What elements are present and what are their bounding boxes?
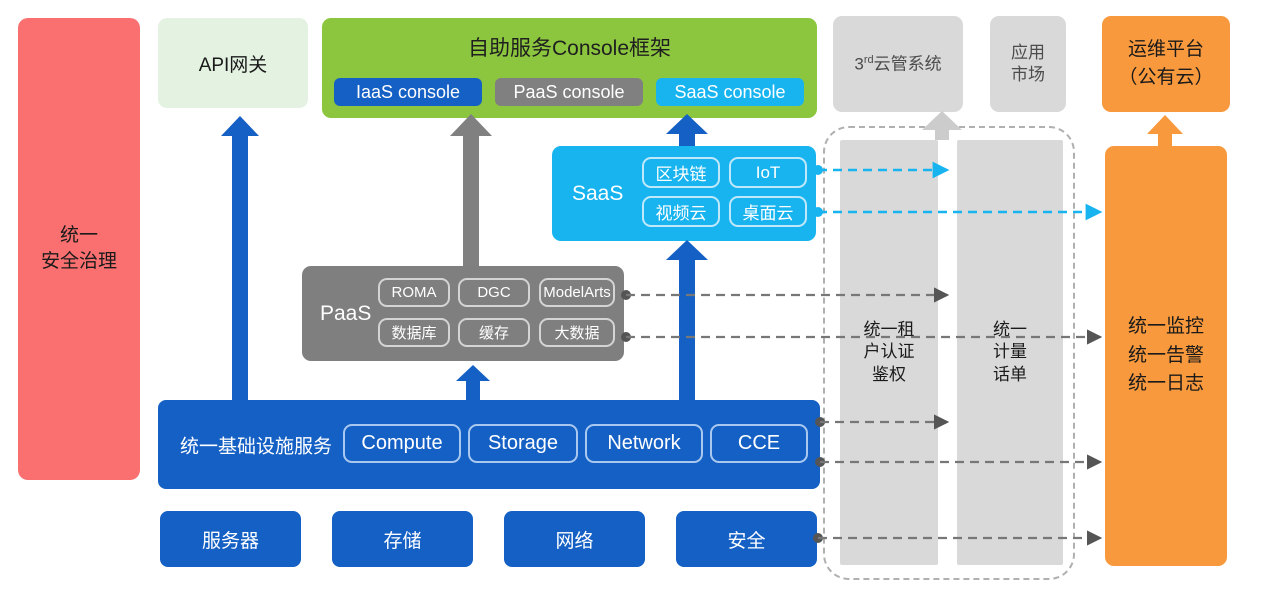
console-chip-saas[interactable]: SaaS console <box>656 78 804 106</box>
ops-panel-line-3: 统一日志 <box>1128 370 1204 399</box>
infra-chip-network[interactable]: Network <box>585 424 703 463</box>
resource-box-storage[interactable]: 存储 <box>332 511 473 567</box>
tenant-auth-line-3: 鉴权 <box>864 364 915 386</box>
tenant-auth-line-2: 户认证 <box>864 341 915 363</box>
arrow-saas-to-console <box>666 114 708 146</box>
paas-chip-database[interactable]: 数据库 <box>378 318 450 347</box>
console-frame-title: 自助服务Console框架 <box>322 32 817 62</box>
paas-chip-bigdata-label: 大数据 <box>554 322 599 343</box>
resource-box-security[interactable]: 安全 <box>676 511 817 567</box>
app-market-box[interactable]: 应用 市场 <box>990 16 1066 112</box>
infra-chip-compute[interactable]: Compute <box>343 424 461 463</box>
ops-panel-line-1: 统一监控 <box>1128 313 1204 342</box>
saas-chip-video-cloud[interactable]: 视频云 <box>642 196 720 227</box>
ops-panel-line-2: 统一告警 <box>1128 342 1204 371</box>
unified-tenant-auth-label: 统一租 户认证 鉴权 <box>864 319 915 385</box>
architecture-diagram: 统一 安全治理 API网关 自助服务Console框架 IaaS console… <box>0 0 1265 605</box>
resource-box-security-label: 安全 <box>727 526 765 553</box>
paas-chip-cache[interactable]: 缓存 <box>458 318 530 347</box>
saas-label: SaaS <box>572 182 623 206</box>
saas-chip-video-cloud-label: 视频云 <box>656 199 707 224</box>
console-chip-saas-label: SaaS console <box>674 82 785 103</box>
infra-chip-network-label: Network <box>607 432 680 455</box>
ops-monitoring-panel[interactable]: 统一监控 统一告警 统一日志 <box>1105 146 1227 566</box>
security-line-1: 统一 <box>41 223 117 249</box>
metering-line-1: 统一 <box>993 319 1027 341</box>
infra-chip-storage-label: Storage <box>488 432 558 455</box>
ops-monitoring-label: 统一监控 统一告警 统一日志 <box>1128 313 1204 399</box>
saas-chip-desktop-cloud[interactable]: 桌面云 <box>729 196 807 227</box>
saas-box[interactable]: SaaS 区块链 IoT 视频云 桌面云 <box>552 146 816 241</box>
saas-chip-blockchain-label: 区块链 <box>656 160 707 185</box>
paas-chip-roma-label: ROMA <box>392 284 437 301</box>
paas-chip-bigdata[interactable]: 大数据 <box>539 318 615 347</box>
security-governance-panel[interactable]: 统一 安全治理 <box>18 18 140 480</box>
unified-infrastructure-label: 统一基础设施服务 <box>180 431 332 458</box>
paas-chip-modelarts[interactable]: ModelArts <box>539 278 615 307</box>
saas-chip-iot-label: IoT <box>756 163 781 183</box>
paas-box[interactable]: PaaS ROMA DGC ModelArts 数据库 缓存 大数据 <box>302 266 624 361</box>
self-service-console-frame[interactable]: 自助服务Console框架 IaaS console PaaS console … <box>322 18 817 118</box>
paas-chip-dgc[interactable]: DGC <box>458 278 530 307</box>
metering-line-2: 计量 <box>993 341 1027 363</box>
unified-tenant-auth-column[interactable]: 统一租 户认证 鉴权 <box>840 140 938 565</box>
ops-platform-line-1: 运维平台 <box>1118 36 1213 64</box>
third-party-cloud-mgmt-box[interactable]: 3rd云管系统 <box>833 16 963 112</box>
resource-box-server-label: 服务器 <box>202 526 259 553</box>
console-chip-iaas-label: IaaS console <box>356 82 460 103</box>
paas-chip-roma[interactable]: ROMA <box>378 278 450 307</box>
infra-chip-cce-label: CCE <box>738 432 780 455</box>
arrow-infra-to-api-gateway <box>221 116 259 400</box>
third-party-cloud-mgmt-label: 3rd云管系统 <box>854 53 941 76</box>
unified-infrastructure-bar[interactable]: 统一基础设施服务 Compute Storage Network CCE <box>158 400 820 489</box>
third-party-suffix: 云管系统 <box>874 54 942 73</box>
resource-box-storage-label: 存储 <box>383 526 421 553</box>
unified-metering-column[interactable]: 统一 计量 话单 <box>957 140 1063 565</box>
security-line-2: 安全治理 <box>41 249 117 275</box>
third-party-superscript: rd <box>864 54 874 66</box>
paas-chip-dgc-label: DGC <box>477 284 510 301</box>
security-governance-label: 统一 安全治理 <box>41 223 117 274</box>
metering-line-3: 话单 <box>993 364 1027 386</box>
api-gateway-label: API网关 <box>199 50 268 77</box>
api-gateway-box[interactable]: API网关 <box>158 18 308 108</box>
arrow-ops-panel-to-ops-platform <box>1147 115 1183 146</box>
arrow-infra-to-saas <box>666 240 708 400</box>
ops-platform-line-2: （公有云） <box>1118 64 1213 92</box>
paas-chip-modelarts-label: ModelArts <box>543 284 611 301</box>
arrow-paas-to-console <box>450 114 492 266</box>
third-party-prefix: 3 <box>854 54 863 73</box>
infra-chip-storage[interactable]: Storage <box>468 424 578 463</box>
app-market-line-1: 应用 <box>1011 42 1045 64</box>
saas-chip-iot[interactable]: IoT <box>729 157 807 188</box>
infra-chip-compute-label: Compute <box>361 432 442 455</box>
console-chip-iaas[interactable]: IaaS console <box>334 78 482 106</box>
resource-box-network[interactable]: 网络 <box>504 511 645 567</box>
app-market-label: 应用 市场 <box>1011 42 1045 86</box>
console-chip-paas-label: PaaS console <box>513 82 624 103</box>
saas-chip-desktop-cloud-label: 桌面云 <box>743 199 794 224</box>
paas-label: PaaS <box>320 302 371 326</box>
saas-chip-blockchain[interactable]: 区块链 <box>642 157 720 188</box>
paas-chip-database-label: 数据库 <box>391 322 436 343</box>
app-market-line-2: 市场 <box>1011 64 1045 86</box>
resource-box-network-label: 网络 <box>555 526 593 553</box>
resource-box-server[interactable]: 服务器 <box>160 511 301 567</box>
ops-platform-top-box[interactable]: 运维平台 （公有云） <box>1102 16 1230 112</box>
tenant-auth-line-1: 统一租 <box>864 319 915 341</box>
ops-platform-top-label: 运维平台 （公有云） <box>1118 36 1213 91</box>
arrow-infra-to-paas <box>456 365 490 400</box>
paas-chip-cache-label: 缓存 <box>479 322 509 343</box>
console-chip-paas[interactable]: PaaS console <box>495 78 643 106</box>
infra-chip-cce[interactable]: CCE <box>710 424 808 463</box>
unified-metering-label: 统一 计量 话单 <box>993 319 1027 385</box>
